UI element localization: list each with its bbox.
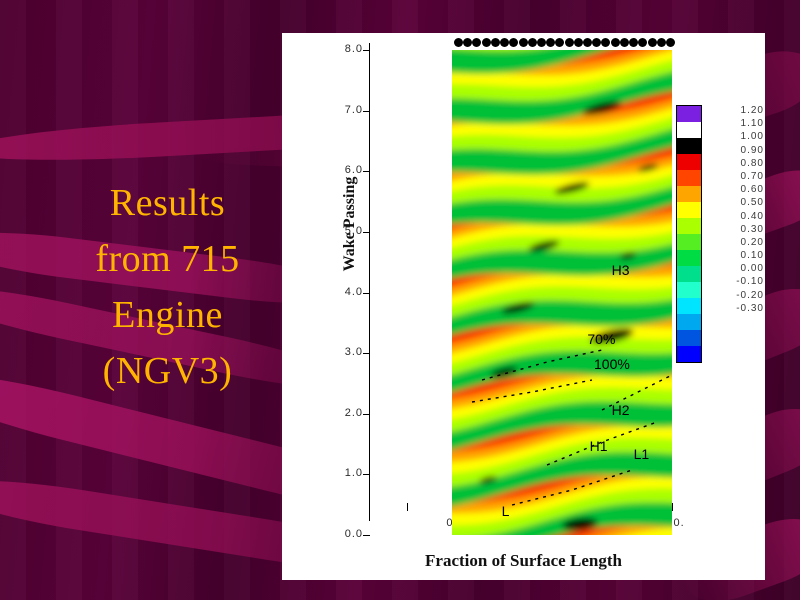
colorbar-tick-label: 1.20 [706, 104, 764, 117]
plot-annotation: L1 [634, 446, 650, 462]
colorbar-swatch [677, 298, 701, 314]
slide-title-line-2: from 715 [55, 231, 280, 287]
top-marker-dot [546, 38, 555, 47]
colorbar-tick-label: 0.20 [706, 236, 764, 249]
presentation-slide: Results from 715 Engine (NGV3) Wake Pass… [0, 0, 800, 600]
colorbar-swatch [677, 138, 701, 154]
plot-annotation: L [502, 503, 510, 519]
colorbar-swatch [677, 330, 701, 346]
y-axis-tick [363, 414, 370, 415]
plot-annotation: 70% [587, 331, 615, 347]
slide-title-line-1: Results [55, 175, 280, 231]
contour-plot-canvas [452, 50, 672, 535]
colorbar-tick-label: 0.10 [706, 249, 764, 262]
slide-title-line-4: (NGV3) [55, 343, 280, 399]
colorbar-tick-label: -0.30 [706, 302, 764, 315]
x-axis-tick [369, 495, 370, 511]
colorbar-swatch [677, 218, 701, 234]
top-marker-dot [666, 38, 675, 47]
y-axis-tick [363, 474, 370, 475]
top-marker-dot [611, 38, 620, 47]
y-axis-tick [363, 535, 370, 536]
top-marker-dot [638, 38, 647, 47]
top-marker-dot [519, 38, 528, 47]
colorbar-swatch [677, 346, 701, 362]
x-axis-label: Fraction of Surface Length [282, 551, 765, 571]
y-axis-tick-label: 5.0 [311, 225, 363, 237]
top-marker-dot [509, 38, 518, 47]
top-marker-row [452, 37, 674, 51]
top-marker-dot [657, 38, 666, 47]
y-axis-line [369, 43, 370, 521]
colorbar-swatch [677, 186, 701, 202]
colorbar-tick-label: 0.80 [706, 157, 764, 170]
colorbar [676, 105, 702, 363]
colorbar-swatch [677, 202, 701, 218]
colorbar-swatch [677, 314, 701, 330]
top-marker-dot [629, 38, 638, 47]
y-axis-tick-label: 2.0 [311, 407, 363, 419]
colorbar-tick-label: 0.70 [706, 170, 764, 183]
colorbar-tick-label: 0.90 [706, 144, 764, 157]
top-marker-dot [583, 38, 592, 47]
colorbar-labels: 1.201.101.000.900.800.700.600.500.400.30… [706, 104, 764, 315]
colorbar-swatch [677, 250, 701, 266]
top-marker-dot [620, 38, 629, 47]
y-axis-tick-label: 0.0 [311, 528, 363, 540]
colorbar-swatch [677, 266, 701, 282]
colorbar-swatch [677, 122, 701, 138]
y-axis-tick [363, 353, 370, 354]
x-axis-tick [407, 503, 408, 511]
top-marker-dot [601, 38, 610, 47]
y-axis-tick-label: 6.0 [311, 164, 363, 176]
slide-title-line-3: Engine [55, 287, 280, 343]
colorbar-tick-label: 0.00 [706, 262, 764, 275]
colorbar-swatch [677, 170, 701, 186]
top-marker-dot [500, 38, 509, 47]
top-marker-dot [555, 38, 564, 47]
colorbar-swatch [677, 154, 701, 170]
top-marker-dot [482, 38, 491, 47]
y-axis-tick-label: 3.0 [311, 346, 363, 358]
top-marker-dot [463, 38, 472, 47]
top-marker-dot [565, 38, 574, 47]
colorbar-tick-label: 0.50 [706, 196, 764, 209]
colorbar-swatch [677, 282, 701, 298]
top-marker-dot [528, 38, 537, 47]
y-axis-tick [363, 50, 370, 51]
y-axis-tick [363, 111, 370, 112]
y-axis-tick-label: 4.0 [311, 286, 363, 298]
colorbar-tick-label: 0.40 [706, 210, 764, 223]
y-axis-tick-label: 1.0 [311, 467, 363, 479]
y-axis-tick-label: 7.0 [311, 104, 363, 116]
y-axis-tick [363, 232, 370, 233]
colorbar-tick-label: -0.20 [706, 289, 764, 302]
x-axis-tick [672, 503, 673, 511]
figure-panel: Wake Passing Fraction of Surface Length … [282, 33, 765, 580]
colorbar-tick-label: 1.00 [706, 130, 764, 143]
top-marker-dot [537, 38, 546, 47]
plot-annotation: H2 [612, 402, 630, 418]
top-marker-dot [648, 38, 657, 47]
y-axis-tick-label: 8.0 [311, 43, 363, 55]
colorbar-tick-label: -0.10 [706, 275, 764, 288]
y-axis-tick [363, 171, 370, 172]
y-axis-tick [363, 293, 370, 294]
colorbar-tick-label: 0.60 [706, 183, 764, 196]
plot-annotation: H1 [590, 438, 608, 454]
colorbar-swatch [677, 234, 701, 250]
colorbar-tick-label: 1.10 [706, 117, 764, 130]
plot-annotation: 100% [594, 356, 630, 372]
top-marker-dot [574, 38, 583, 47]
slide-title: Results from 715 Engine (NGV3) [55, 175, 280, 399]
contour-plot [452, 50, 672, 535]
top-marker-dot [491, 38, 500, 47]
colorbar-tick-label: 0.30 [706, 223, 764, 236]
plot-annotation: H3 [612, 262, 630, 278]
top-marker-dot [472, 38, 481, 47]
top-marker-dot [592, 38, 601, 47]
top-marker-dot [454, 38, 463, 47]
colorbar-swatch [677, 106, 701, 122]
